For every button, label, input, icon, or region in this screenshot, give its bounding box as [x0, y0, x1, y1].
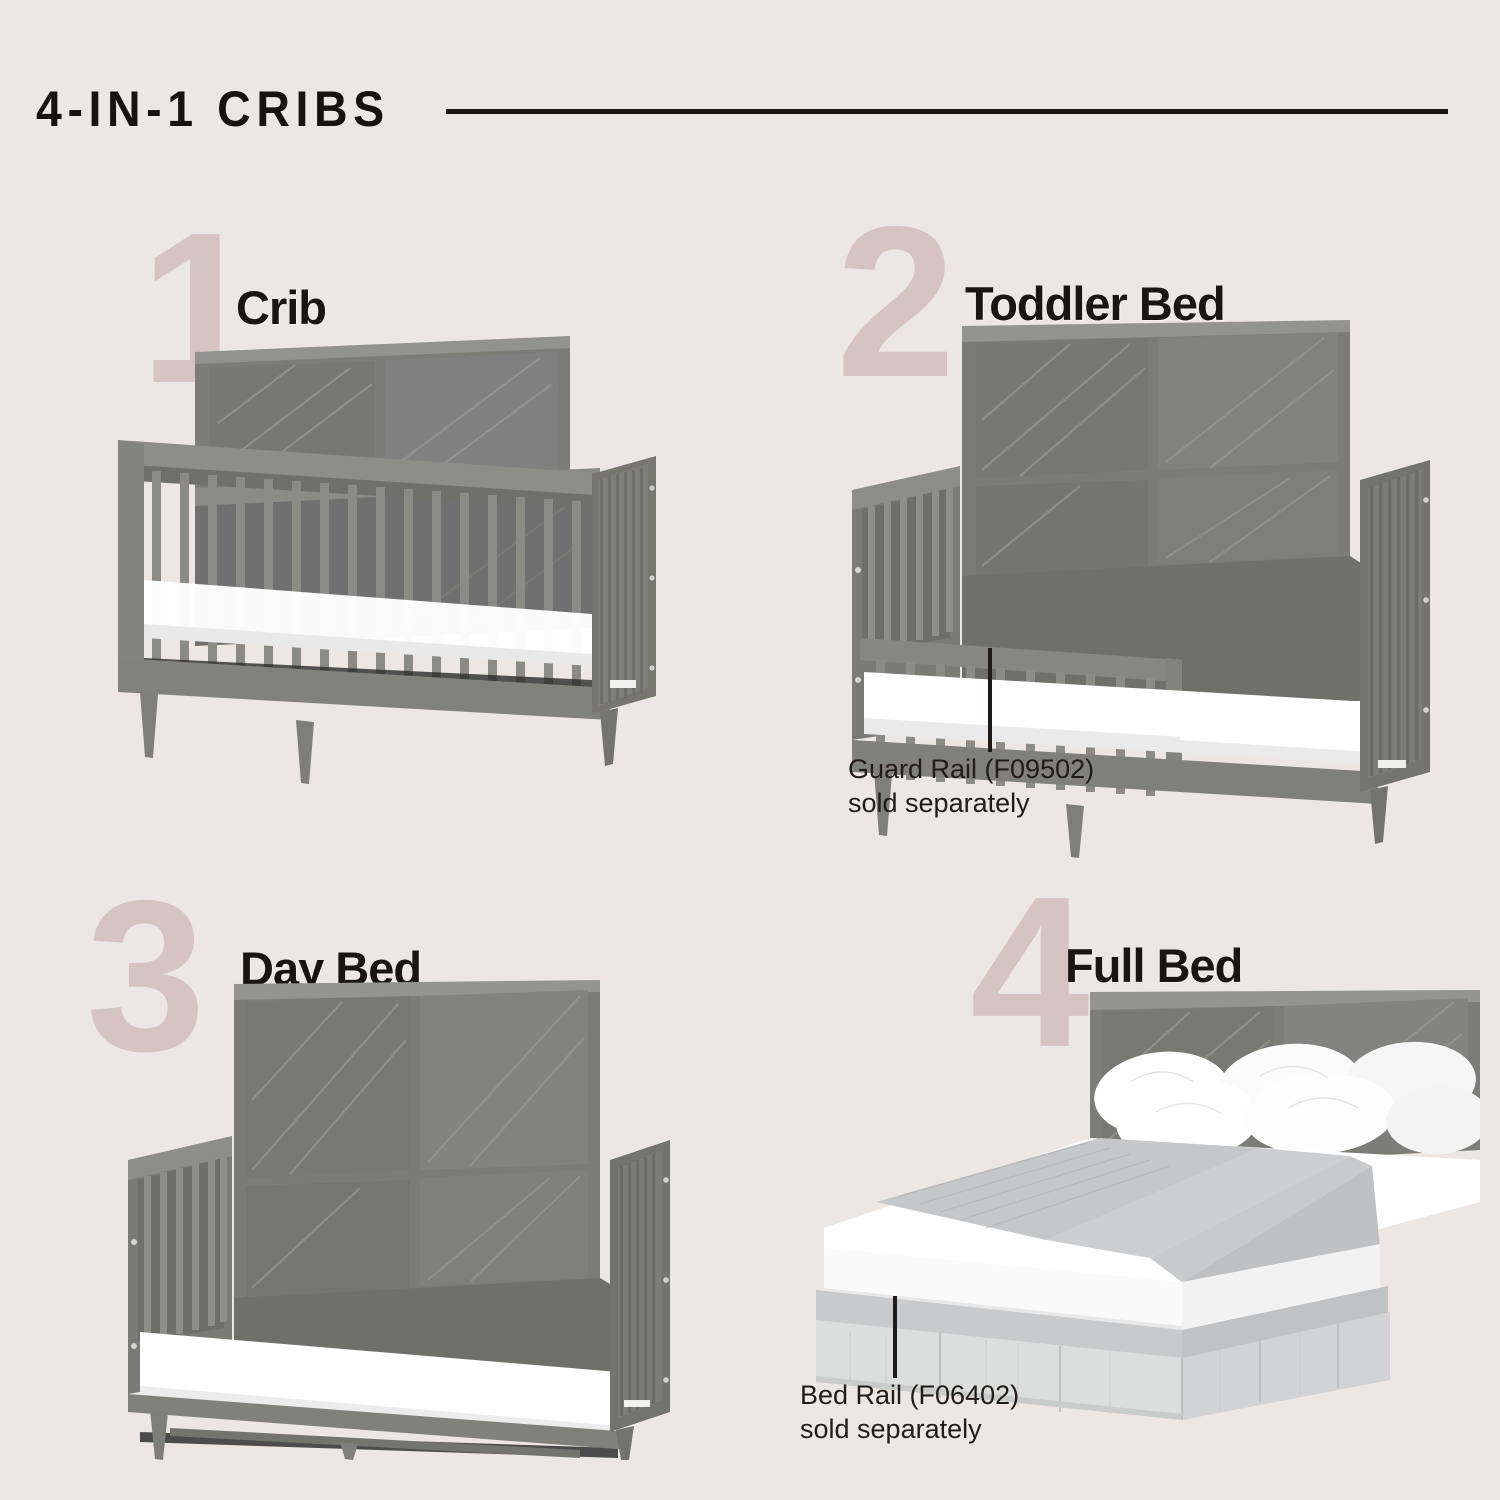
- step-label-crib: Crib: [236, 284, 326, 331]
- callout-guard-rail: Guard Rail (F09502) sold separately: [848, 752, 1094, 820]
- callout-bed-rail: Bed Rail (F06402) sold separately: [800, 1378, 1019, 1446]
- callout-bed-rail-line1: Bed Rail (F06402): [800, 1378, 1019, 1412]
- crib-icon: [100, 328, 700, 788]
- day-bed-icon: [110, 980, 710, 1460]
- bed-rail-leader-line: [889, 1296, 901, 1378]
- callout-guard-rail-line1: Guard Rail (F09502): [848, 752, 1094, 786]
- callout-bed-rail-line2: sold separately: [800, 1412, 1019, 1446]
- page-header: 4-IN-1 CRIBS: [36, 78, 1448, 140]
- page-title: 4-IN-1 CRIBS: [36, 84, 390, 134]
- header-divider: [446, 109, 1448, 114]
- step-panel-crib: 1 Crib: [90, 200, 710, 800]
- callout-guard-rail-line2: sold separately: [848, 786, 1094, 820]
- infographic-page: 4-IN-1 CRIBS 1 Crib: [0, 0, 1500, 1500]
- step-panel-day-bed: 3 Day Bed: [70, 880, 710, 1440]
- guard-rail-leader-line: [984, 648, 996, 752]
- step-label-full-bed: Full Bed: [1065, 942, 1242, 989]
